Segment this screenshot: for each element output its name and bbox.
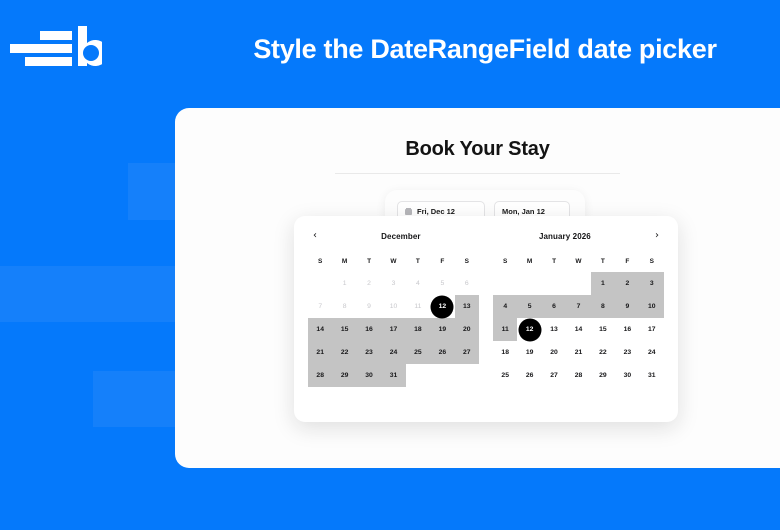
- month-label-right: January 2026: [480, 232, 650, 241]
- calendar-day[interactable]: 8: [591, 295, 615, 318]
- calendar-day: 9: [357, 295, 381, 318]
- calendar-day[interactable]: 25: [406, 341, 430, 364]
- calendar-day[interactable]: 12: [430, 295, 454, 318]
- calendar-day[interactable]: 31: [381, 364, 405, 387]
- calendar-day[interactable]: 14: [308, 318, 332, 341]
- calendar-day[interactable]: 23: [615, 341, 639, 364]
- calendar-day[interactable]: 2: [615, 272, 639, 295]
- calendar-day: 10: [381, 295, 405, 318]
- week-rows: 1234567891011121314151617181920212223242…: [308, 272, 479, 387]
- calendar-day[interactable]: 9: [615, 295, 639, 318]
- calendar-day[interactable]: 16: [357, 318, 381, 341]
- calendar-day[interactable]: 31: [640, 364, 664, 387]
- calendar-day: 3: [381, 272, 405, 295]
- bit-logo: [10, 26, 102, 72]
- end-date-value: Mon, Jan 12: [502, 207, 545, 216]
- calendar-day[interactable]: 7: [566, 295, 590, 318]
- calendar-day[interactable]: 25: [493, 364, 517, 387]
- week-rows: 1234567891011121314151617181920212223242…: [493, 272, 664, 387]
- calendar-day: 4: [406, 272, 430, 295]
- calendar-day[interactable]: 28: [566, 364, 590, 387]
- calendar-day[interactable]: 15: [591, 318, 615, 341]
- weekday-label: W: [381, 254, 405, 270]
- calendar-day[interactable]: 22: [591, 341, 615, 364]
- weekday-label: F: [430, 254, 454, 270]
- weekday-label: T: [542, 254, 566, 270]
- calendar-day: 2: [357, 272, 381, 295]
- weekday-row: SMTWTFS: [308, 254, 479, 270]
- weekday-row: SMTWTFS: [493, 254, 664, 270]
- weekday-label: M: [517, 254, 541, 270]
- weekday-label: T: [591, 254, 615, 270]
- calendar-months: SMTWTFS 12345678910111213141516171819202…: [308, 254, 664, 387]
- calendar-day[interactable]: 19: [430, 318, 454, 341]
- calendar-day[interactable]: 29: [332, 364, 356, 387]
- month-label-left: December: [322, 232, 480, 241]
- calendar-day[interactable]: 20: [542, 341, 566, 364]
- weekday-label: T: [406, 254, 430, 270]
- calendar-week-row: 45678910: [493, 295, 664, 318]
- calendar-day: 5: [430, 272, 454, 295]
- calendar-day[interactable]: 23: [357, 341, 381, 364]
- weekday-label: S: [493, 254, 517, 270]
- calendar-day[interactable]: 26: [517, 364, 541, 387]
- calendar-day[interactable]: 14: [566, 318, 590, 341]
- weekday-label: W: [566, 254, 590, 270]
- weekday-label: T: [357, 254, 381, 270]
- calendar-month-left: SMTWTFS 12345678910111213141516171819202…: [308, 254, 479, 387]
- calendar-week-row: 25262728293031: [493, 364, 664, 387]
- calendar-day[interactable]: 21: [308, 341, 332, 364]
- calendar-day[interactable]: 4: [493, 295, 517, 318]
- calendar-day[interactable]: 29: [591, 364, 615, 387]
- weekday-label: M: [332, 254, 356, 270]
- card-divider: [335, 173, 620, 174]
- calendar-day: 1: [332, 272, 356, 295]
- calendar-day[interactable]: 5: [517, 295, 541, 318]
- calendar-day: 8: [332, 295, 356, 318]
- calendar-day[interactable]: 17: [381, 318, 405, 341]
- card-heading: Book Your Stay: [175, 138, 780, 161]
- prev-month-button[interactable]: ‹: [308, 229, 322, 243]
- calendar-day[interactable]: 16: [615, 318, 639, 341]
- calendar-day[interactable]: 30: [357, 364, 381, 387]
- weekday-label: S: [455, 254, 479, 270]
- calendar-day[interactable]: 19: [517, 341, 541, 364]
- weekday-label: S: [640, 254, 664, 270]
- calendar-day[interactable]: 26: [430, 341, 454, 364]
- calendar-week-row: 21222324252627: [308, 341, 479, 364]
- calendar-icon: [405, 208, 412, 215]
- calendar-week-row: 18192021222324: [493, 341, 664, 364]
- calendar-day[interactable]: 27: [455, 341, 479, 364]
- start-date-value: Fri, Dec 12: [417, 207, 455, 216]
- calendar-day[interactable]: 10: [640, 295, 664, 318]
- calendar-day[interactable]: 3: [640, 272, 664, 295]
- calendar-day[interactable]: 27: [542, 364, 566, 387]
- weekday-label: F: [615, 254, 639, 270]
- calendar-day[interactable]: 30: [615, 364, 639, 387]
- calendar-day[interactable]: 20: [455, 318, 479, 341]
- calendar-week-row: 11121314151617: [493, 318, 664, 341]
- calendar-day: 11: [406, 295, 430, 318]
- page-title: Style the DateRangeField date picker: [200, 30, 770, 68]
- calendar-week-row: 14151617181920: [308, 318, 479, 341]
- calendar-week-row: 123: [493, 272, 664, 295]
- calendar-day[interactable]: 18: [493, 341, 517, 364]
- calendar-week-row: 123456: [308, 272, 479, 295]
- calendar-day[interactable]: 24: [381, 341, 405, 364]
- calendar-day[interactable]: 28: [308, 364, 332, 387]
- calendar-day[interactable]: 6: [542, 295, 566, 318]
- calendar-day[interactable]: 1: [591, 272, 615, 295]
- calendar-week-row: 78910111213: [308, 295, 479, 318]
- calendar-day[interactable]: 24: [640, 341, 664, 364]
- calendar-day[interactable]: 22: [332, 341, 356, 364]
- calendar-week-row: 28293031: [308, 364, 479, 387]
- background-accent-block-2: [0, 266, 181, 322]
- calendar-day[interactable]: 13: [542, 318, 566, 341]
- background-accent-block-3: [93, 371, 183, 427]
- calendar-day: 7: [308, 295, 332, 318]
- calendar-header: ‹ December January 2026 ›: [308, 228, 664, 244]
- hero-header: Style the DateRangeField date picker: [0, 0, 780, 96]
- calendar-day[interactable]: 21: [566, 341, 590, 364]
- date-picker-popup: ‹ December January 2026 › SMTWTFS 123456…: [294, 216, 678, 422]
- calendar-day[interactable]: 13: [455, 295, 479, 318]
- calendar-day[interactable]: 11: [493, 318, 517, 341]
- weekday-label: S: [308, 254, 332, 270]
- calendar-day[interactable]: 17: [640, 318, 664, 341]
- calendar-day: 6: [455, 272, 479, 295]
- calendar-day[interactable]: 15: [332, 318, 356, 341]
- next-month-button[interactable]: ›: [650, 229, 664, 243]
- calendar-day[interactable]: 18: [406, 318, 430, 341]
- calendar-day[interactable]: 12: [517, 318, 541, 341]
- calendar-month-right: SMTWTFS 12345678910111213141516171819202…: [493, 254, 664, 387]
